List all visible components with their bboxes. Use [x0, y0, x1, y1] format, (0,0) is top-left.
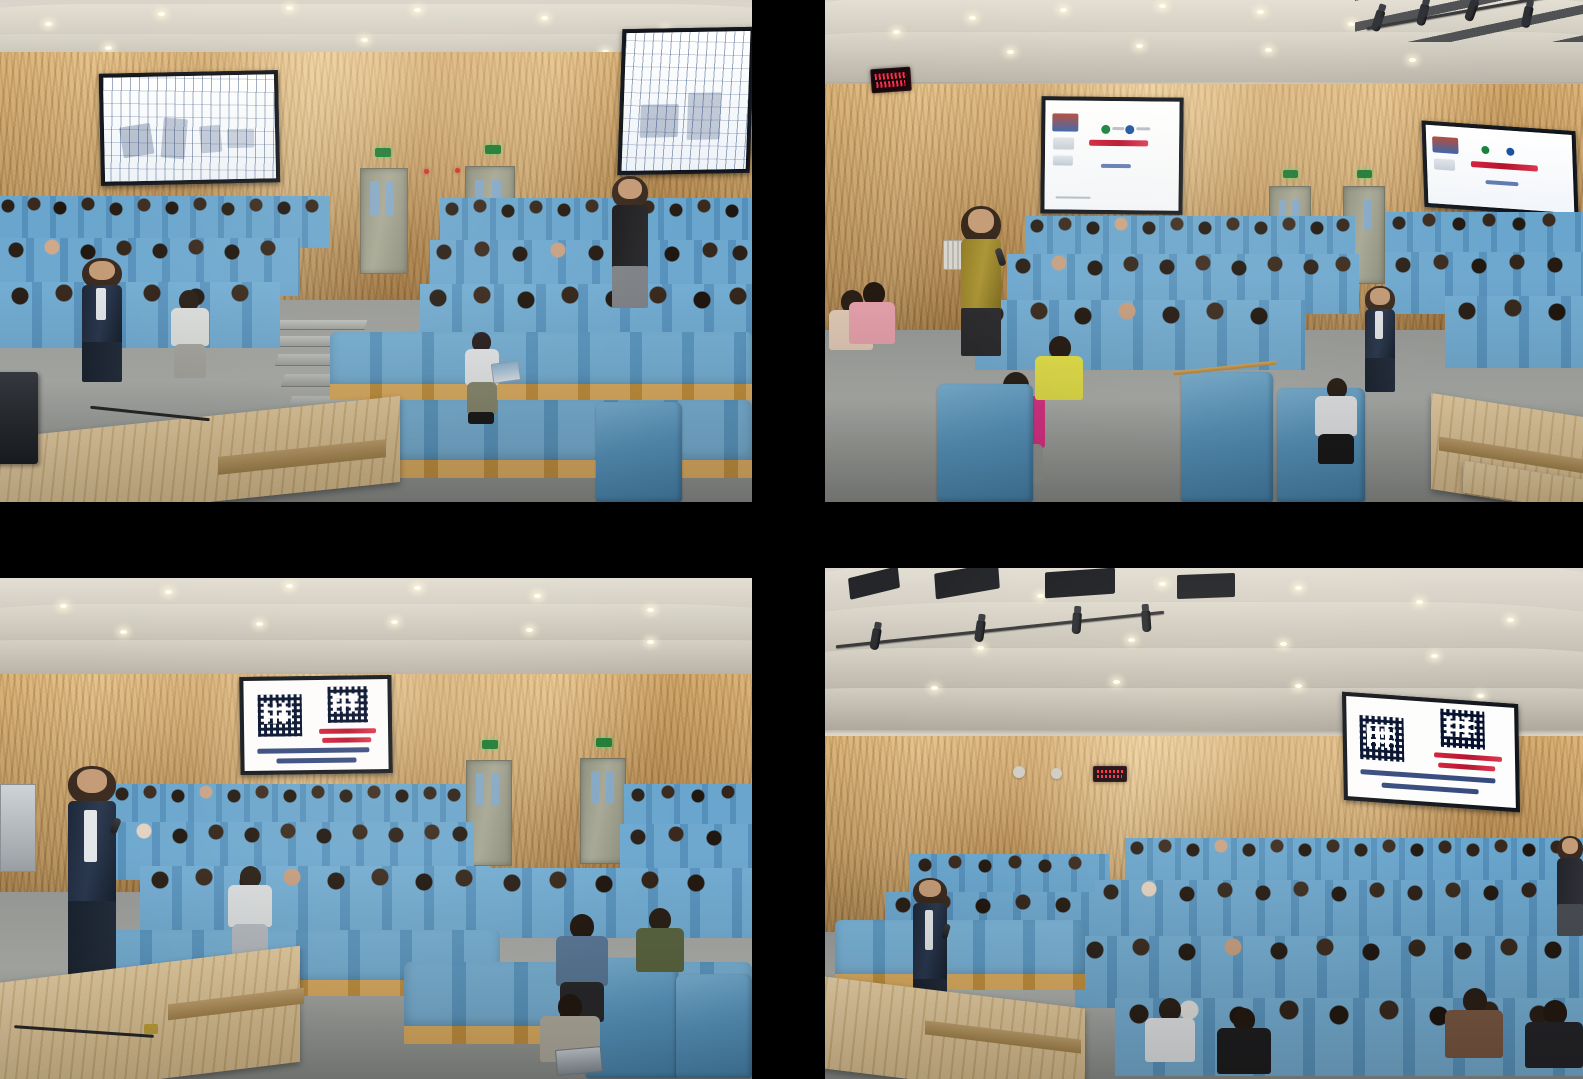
- seat-foreground: [937, 384, 1033, 502]
- seated-attendee: [1445, 988, 1503, 1079]
- photo-panel-top-right: [825, 0, 1583, 502]
- lectern-monitor: [0, 372, 38, 464]
- seat-row-front: [330, 332, 752, 390]
- staff-in-suit: [1365, 286, 1395, 392]
- seated-attendee: [1035, 336, 1083, 426]
- photo-panel-top-left: [0, 0, 752, 502]
- photo-panel-bottom-left: [0, 578, 752, 1079]
- laptop-icon: [491, 360, 522, 384]
- seat-foreground: [676, 974, 752, 1078]
- seat-foreground: [1181, 372, 1273, 502]
- seat-row-left-empty: [835, 920, 1085, 980]
- seated-attendee: [1145, 998, 1195, 1079]
- standing-questioner: [961, 206, 1001, 356]
- seated-attendee: [1315, 378, 1357, 466]
- photo-grid: [0, 0, 1583, 1079]
- seated-attendee: [849, 282, 895, 368]
- seated-attendee: [636, 908, 684, 1004]
- seat-row-front: [378, 400, 752, 466]
- photo-panel-bottom-right: [825, 568, 1583, 1079]
- seated-attendee: [228, 866, 272, 962]
- speaker-in-suit: [68, 766, 116, 984]
- standing-attendee: [1557, 836, 1583, 936]
- seat-foreground: [596, 402, 682, 502]
- speaker-in-suit: [82, 258, 122, 382]
- seated-attendee: [170, 290, 210, 382]
- laptop-icon: [555, 1046, 603, 1076]
- seated-attendee: [1217, 1008, 1271, 1079]
- seated-attendee: [1525, 1000, 1583, 1079]
- standing-attendee: [612, 176, 648, 308]
- left-wall-panel: [0, 784, 36, 872]
- seat-row-wood-trim: [378, 460, 752, 478]
- cable-connector-icon: [144, 1024, 158, 1034]
